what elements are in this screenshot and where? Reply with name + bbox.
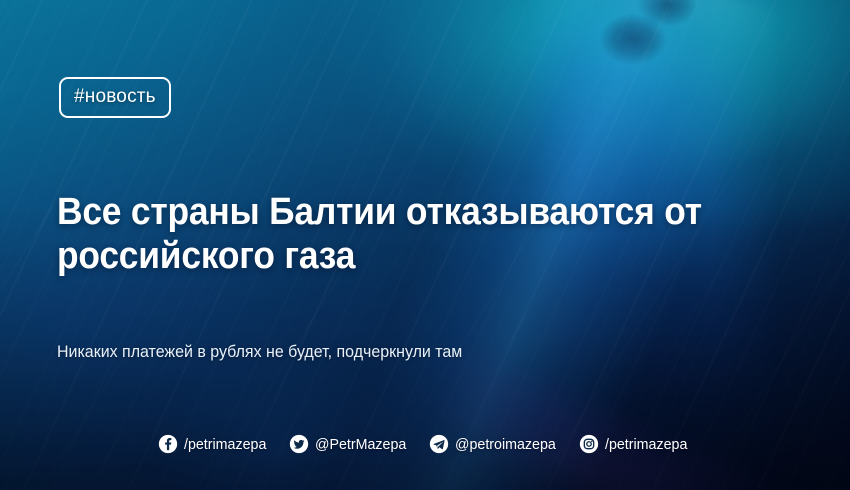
- facebook-icon: [158, 434, 178, 454]
- subtitle-text: Никаких платежей в рублях не будет, подч…: [57, 341, 715, 363]
- social-link-facebook[interactable]: /petrimazepa: [158, 434, 271, 454]
- social-handle-facebook: /petrimazepa: [184, 436, 266, 453]
- page-title: Все страны Балтии отказываются от россий…: [57, 190, 750, 279]
- twitter-icon: [289, 434, 309, 454]
- social-link-telegram[interactable]: @petroimazepa: [429, 434, 561, 454]
- social-links-bar: /petrimazepa @PetrMazepa: [0, 434, 850, 454]
- category-tag-badge[interactable]: #новость: [59, 77, 171, 118]
- social-link-instagram[interactable]: /petrimazepa: [579, 434, 692, 454]
- telegram-icon: [429, 434, 449, 454]
- social-handle-twitter: @PetrMazepa: [315, 436, 406, 453]
- news-card: #новость Все страны Балтии отказываются …: [0, 0, 850, 490]
- instagram-icon: [579, 434, 599, 454]
- card-content: #новость Все страны Балтии отказываются …: [0, 0, 850, 490]
- social-link-twitter[interactable]: @PetrMazepa: [289, 434, 411, 454]
- social-handle-instagram: /petrimazepa: [605, 436, 687, 453]
- social-handle-telegram: @petroimazepa: [455, 436, 556, 453]
